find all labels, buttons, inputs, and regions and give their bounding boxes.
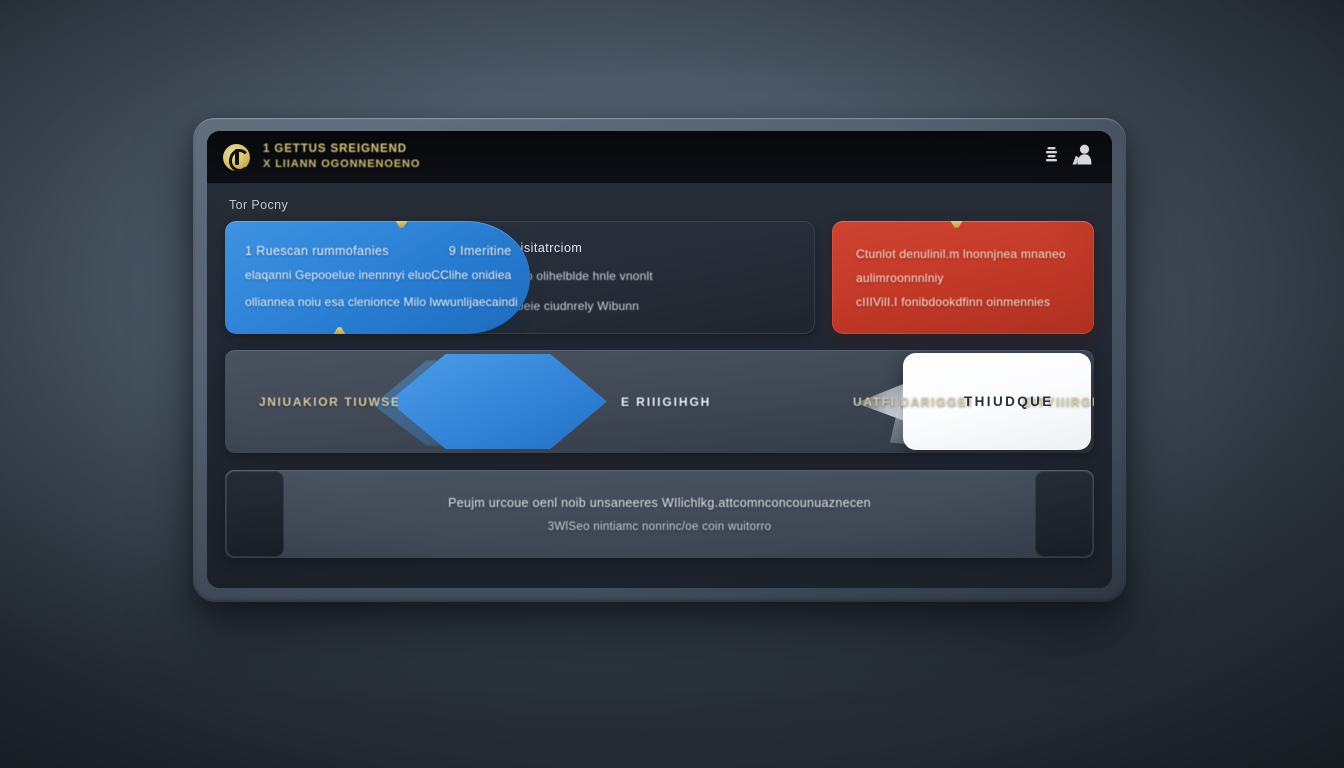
user-icon[interactable] [1071, 144, 1094, 170]
footer-line-1: Peujm urcoue oenl noib unsaneeres WIlich… [448, 496, 871, 510]
band-label-5[interactable]: THIUDQUE [964, 394, 1054, 409]
brand-line-secondary: X LIIANN OGONNENOENO [263, 158, 420, 171]
brand-text: 1 GETTUS SREIGNEND X LIIANN OGONNENOENO [263, 143, 420, 172]
blue-bubble-line-1: elaqanni Gepooelue inennnyi eluoCClihe o… [245, 267, 512, 284]
red-alert-card[interactable]: Ctunlot denulinil.m lnonnjnea mnaneo aul… [832, 221, 1094, 334]
brand-block[interactable]: 1 GETTUS SREIGNEND X LIIANN OGONNENOENO [223, 143, 420, 172]
device-frame: 1 GETTUS SREIGNEND X LIIANN OGONNENOENO [193, 118, 1126, 602]
section-label: Tor Pocny [229, 198, 1094, 212]
content-area: Tor Pocny Shelze Onisitatrciom ealdwoa l… [207, 184, 1112, 588]
menu-icon[interactable] [1045, 146, 1058, 168]
gold-tick-top-icon [395, 221, 408, 228]
band-label-1[interactable]: JNIUAKIOR TIUWSE [259, 395, 401, 409]
band-label-group: JNIUAKIOR TIUWSE E RIIIGIHGH UATFI DARIG… [225, 350, 1094, 453]
footer-block-right[interactable] [1035, 471, 1093, 557]
dark-panel-card[interactable]: Shelze Onisitatrciom ealdwoa lilUmBincoo… [225, 221, 815, 334]
red-card-line-3: cIIIVilI.I fonibdookdfinn oinmennies [856, 295, 1074, 309]
titlebar: 1 GETTUS SREIGNEND X LIIANN OGONNENOENO [207, 131, 1112, 184]
blue-bubble-title: 1 Ruescan rummofanies [245, 244, 389, 258]
process-band[interactable]: JNIUAKIOR TIUWSE E RIIIGIHGH UATFI DARIG… [225, 350, 1094, 453]
footer-block-left[interactable] [226, 471, 284, 557]
brand-line-primary: 1 GETTUS SREIGNEND [263, 143, 420, 157]
footer-panel[interactable]: Peujm urcoue oenl noib unsaneeres WIlich… [225, 470, 1094, 558]
red-card-line-1: Ctunlot denulinil.m lnonnjnea mnaneo [856, 247, 1074, 261]
gold-tick-bottom-icon [333, 327, 346, 334]
titlebar-actions [1045, 144, 1094, 170]
band-label-3[interactable]: UATFI DARIGGEI [853, 395, 973, 409]
blue-bubble-line-2: olliannea noiu esa clenionce Milo lwwunl… [245, 294, 512, 311]
app-window: 1 GETTUS SREIGNEND X LIIANN OGONNENOENO [207, 131, 1112, 588]
blue-bubble-card[interactable]: 1 Ruescan rummofanies 9 Imeritine elaqan… [225, 221, 530, 334]
footer-line-2: 3WlSeo nintiamc nonrinc/oe coin wuitorro [548, 521, 772, 533]
red-card-line-2: aulimroonnnlniy [856, 271, 1074, 285]
band-label-2[interactable]: E RIIIGIHGH [621, 395, 711, 409]
gold-tick-red-icon [950, 221, 963, 228]
top-card-row: Shelze Onisitatrciom ealdwoa lilUmBincoo… [225, 221, 1094, 334]
blue-bubble-head: 1 Ruescan rummofanies 9 Imeritine [245, 244, 512, 258]
blue-bubble-tag: 9 Imeritine [449, 244, 512, 258]
app-logo-badge [223, 144, 250, 171]
